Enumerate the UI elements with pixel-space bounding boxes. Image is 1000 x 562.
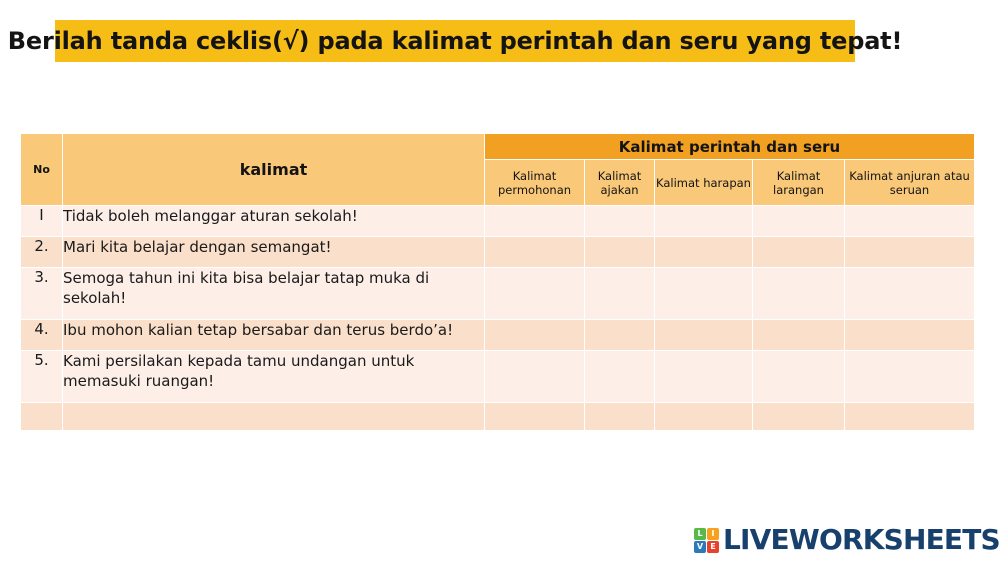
column-header-larangan: Kalimat larangan: [753, 160, 845, 206]
answer-cell-larangan[interactable]: [753, 206, 845, 237]
answer-cell-harapan[interactable]: [655, 320, 753, 351]
table-row: I Tidak boleh melanggar aturan sekolah!: [21, 206, 975, 237]
row-number: [21, 403, 63, 431]
answer-cell-permohonan[interactable]: [485, 237, 585, 268]
liveworksheets-logo: L I V E LIVEWORKSHEETS: [694, 522, 1000, 558]
answer-cell-larangan[interactable]: [753, 320, 845, 351]
instruction-text: Berilah tanda ceklis(√) pada kalimat per…: [8, 27, 902, 55]
row-number: 2.: [21, 237, 63, 268]
column-header-kalimat: kalimat: [63, 134, 485, 206]
column-header-no: No: [21, 134, 63, 206]
answer-cell-anjuran[interactable]: [845, 268, 975, 320]
logo-tile-v: V: [694, 541, 706, 553]
logo-tiles-icon: L I V E: [694, 528, 719, 553]
answer-cell-ajakan[interactable]: [585, 320, 655, 351]
table-row: 5. Kami persilakan kepada tamu undangan …: [21, 351, 975, 403]
row-sentence: Ibu mohon kalian tetap bersabar dan teru…: [63, 320, 485, 351]
table-row: 3. Semoga tahun ini kita bisa belajar ta…: [21, 268, 975, 320]
answer-cell-permohonan[interactable]: [485, 351, 585, 403]
answer-cell-harapan[interactable]: [655, 237, 753, 268]
row-sentence: [63, 403, 485, 431]
table-header-row-top: No kalimat Kalimat perintah dan seru: [21, 134, 975, 160]
answer-cell-harapan[interactable]: [655, 206, 753, 237]
logo-tile-l: L: [694, 528, 706, 540]
answer-cell-anjuran[interactable]: [845, 403, 975, 431]
answer-cell-larangan[interactable]: [753, 351, 845, 403]
row-number: I: [21, 206, 63, 237]
worksheet-table: No kalimat Kalimat perintah dan seru Kal…: [20, 133, 975, 431]
column-header-ajakan: Kalimat ajakan: [585, 160, 655, 206]
answer-cell-harapan[interactable]: [655, 351, 753, 403]
answer-cell-ajakan[interactable]: [585, 403, 655, 431]
answer-cell-larangan[interactable]: [753, 268, 845, 320]
table-body: I Tidak boleh melanggar aturan sekolah! …: [21, 206, 975, 431]
table-row: [21, 403, 975, 431]
column-header-permohonan: Kalimat permohonan: [485, 160, 585, 206]
row-number: 5.: [21, 351, 63, 403]
row-sentence: Mari kita belajar dengan semangat!: [63, 237, 485, 268]
answer-cell-permohonan[interactable]: [485, 206, 585, 237]
answer-cell-anjuran[interactable]: [845, 206, 975, 237]
row-sentence: Semoga tahun ini kita bisa belajar tatap…: [63, 268, 485, 320]
answer-cell-harapan[interactable]: [655, 268, 753, 320]
answer-cell-permohonan[interactable]: [485, 320, 585, 351]
instruction-banner: Berilah tanda ceklis(√) pada kalimat per…: [55, 20, 855, 62]
answer-cell-harapan[interactable]: [655, 403, 753, 431]
logo-tile-e: E: [707, 541, 719, 553]
answer-cell-anjuran[interactable]: [845, 237, 975, 268]
answer-cell-ajakan[interactable]: [585, 206, 655, 237]
answer-cell-ajakan[interactable]: [585, 351, 655, 403]
answer-cell-anjuran[interactable]: [845, 351, 975, 403]
answer-cell-permohonan[interactable]: [485, 268, 585, 320]
answer-cell-ajakan[interactable]: [585, 237, 655, 268]
logo-tile-i: I: [707, 528, 719, 540]
answer-cell-ajakan[interactable]: [585, 268, 655, 320]
column-header-harapan: Kalimat harapan: [655, 160, 753, 206]
row-number: 3.: [21, 268, 63, 320]
row-sentence: Tidak boleh melanggar aturan sekolah!: [63, 206, 485, 237]
row-sentence: Kami persilakan kepada tamu undangan unt…: [63, 351, 485, 403]
table-row: 2. Mari kita belajar dengan semangat!: [21, 237, 975, 268]
answer-cell-permohonan[interactable]: [485, 403, 585, 431]
answer-cell-anjuran[interactable]: [845, 320, 975, 351]
logo-wordmark: LIVEWORKSHEETS: [723, 526, 1000, 554]
row-number: 4.: [21, 320, 63, 351]
column-group-header: Kalimat perintah dan seru: [485, 134, 975, 160]
answer-cell-larangan[interactable]: [753, 403, 845, 431]
table-row: 4. Ibu mohon kalian tetap bersabar dan t…: [21, 320, 975, 351]
column-header-anjuran: Kalimat anjuran atau seruan: [845, 160, 975, 206]
answer-cell-larangan[interactable]: [753, 237, 845, 268]
table-header: No kalimat Kalimat perintah dan seru Kal…: [21, 134, 975, 206]
